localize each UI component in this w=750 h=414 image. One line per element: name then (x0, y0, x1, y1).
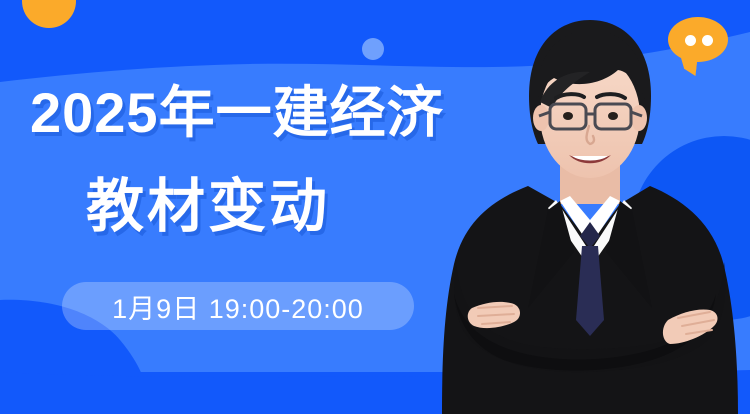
promo-banner: 2025年一建经济 教材变动 1月9日 19:00-20:00 (0, 0, 750, 414)
light-blue-dot-icon (362, 38, 384, 60)
instructor-photo (432, 8, 750, 414)
datetime-label: 1月9日 19:00-20:00 (112, 287, 364, 326)
datetime-pill: 1月9日 19:00-20:00 (62, 282, 414, 330)
